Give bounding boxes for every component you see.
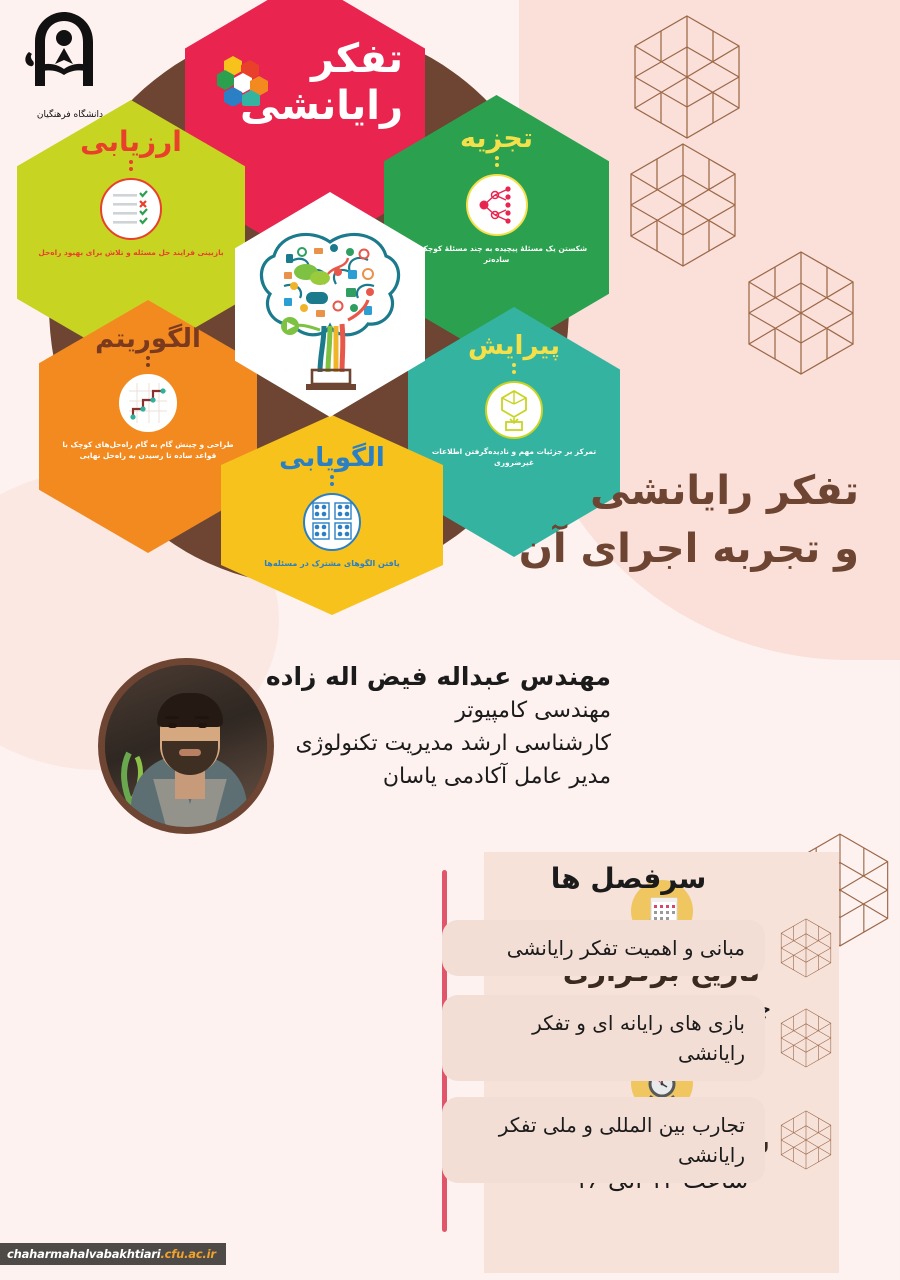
deco-hex-star-icon-5 [776, 917, 838, 979]
hex-evaluation-dots [130, 160, 134, 171]
speaker-role-3: مدیر عامل آکادمی یاسان [52, 760, 612, 793]
hex-abstraction-dots [513, 363, 517, 374]
speaker-section: مهندس عبداله فیض اله زاده مهندسی کامپیوت… [0, 648, 900, 848]
page-title-line2: و تجربه اجرای آن [390, 520, 860, 578]
deco-hex-star-icon-1 [628, 12, 748, 142]
tree-nodes-icon [476, 185, 520, 225]
brain-tree-icon [251, 214, 411, 396]
list-item: مبانی و اهمیت تفکر رایانشی [443, 917, 838, 979]
hex-algorithm-icon-circle [120, 374, 178, 432]
deco-hex-star-icon-3 [742, 248, 862, 378]
hex-pattern-dots [331, 475, 335, 486]
university-logo: دانشگاه فرهنگیان [8, 8, 108, 118]
hex-evaluation-title: ارزیابی [81, 128, 183, 156]
hex-pattern-title: الگویابی [280, 445, 386, 471]
hex-algorithm-desc: طراحی و چینش گام به گام راه‌حل‌های کوچک … [40, 439, 258, 461]
cube-filter-icon [498, 389, 532, 431]
deco-hex-star-icon-2 [624, 140, 744, 270]
hex-evaluation-desc: بازبینی فرایند حل مسئله و تلاش برای بهبو… [23, 247, 240, 258]
farhangian-logo-icon [22, 8, 108, 100]
deco-hex-star-icon-7 [776, 1109, 838, 1171]
speaker-name: مهندس عبداله فیض اله زاده [52, 660, 612, 694]
staircase-path-icon [128, 383, 170, 423]
list-item: بازی های رایانه ای و تفکر رایانشی [443, 995, 838, 1081]
syllabus-title: سرفصل ها [443, 862, 838, 895]
pattern-grid-icon [312, 502, 354, 542]
hex-abstraction-icon-circle [486, 381, 544, 439]
speaker-role-2: کارشناسی ارشد مدیریت تکنولوژی [52, 727, 612, 760]
syllabus-section: سرفصل ها مبانی و اهمیت تفکر رایانشی بازی… [443, 862, 838, 1199]
speaker-details: مهندس عبداله فیض اله زاده مهندسی کامپیوت… [52, 660, 612, 793]
hex-pattern-icon-circle [304, 493, 362, 551]
hex-decomposition-title: تجزیه [461, 125, 534, 152]
footer-url-prefix: chaharmahalvabakhtiari [8, 1247, 162, 1261]
page-title: تفکر رایانشی و تجربه اجرای آن [390, 462, 860, 578]
syllabus-item-1: مبانی و اهمیت تفکر رایانشی [443, 920, 766, 976]
hex-evaluation-icon-circle [101, 178, 163, 240]
syllabus-item-3: تجارب بین المللی و ملی تفکر رایانشی [443, 1097, 766, 1183]
hex-abstraction-title: پیرایش [469, 333, 561, 359]
speaker-role-1: مهندسی کامپیوتر [52, 694, 612, 727]
hex-decomposition-icon-circle [467, 174, 529, 236]
checklist-icon [111, 189, 153, 229]
syllabus-item-2: بازی های رایانه ای و تفکر رایانشی [443, 995, 766, 1081]
list-item: تجارب بین المللی و ملی تفکر رایانشی [443, 1097, 838, 1183]
hex-algorithm-title: الگوریتم [96, 326, 202, 352]
deco-hex-star-icon-6 [776, 1007, 838, 1069]
footer-website-url[interactable]: chaharmahalvabakhtiari.cfu.ac.ir [0, 1243, 227, 1265]
university-name: دانشگاه فرهنگیان [38, 110, 104, 120]
hex-decomposition-dots [496, 156, 500, 167]
hex-algorithm-dots [147, 356, 151, 367]
footer-url-domain: .cfu.ac.ir [162, 1247, 217, 1261]
page-title-line1: تفکر رایانشی [390, 462, 860, 520]
hex-cluster-icon [218, 54, 270, 106]
